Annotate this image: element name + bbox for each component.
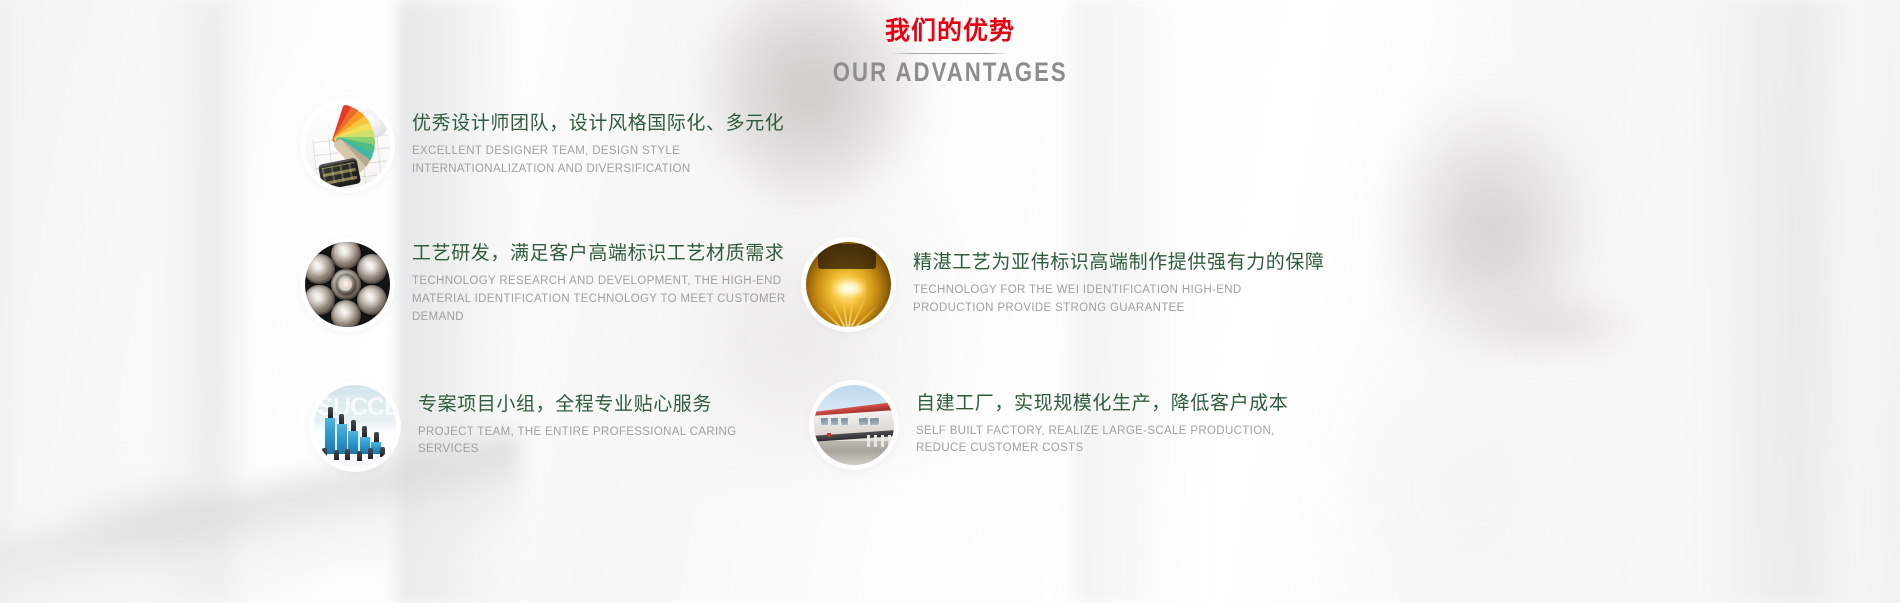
success-team-chart-image: SUCCESS	[314, 385, 396, 467]
feature-title-en-2: TECHNOLOGY RESEARCH AND DEVELOPMENT, THE…	[412, 273, 792, 326]
page-title-cn: 我们的优势	[807, 18, 1094, 46]
feature-thumb-wrap-4: SUCCESS	[314, 385, 396, 467]
color-swatch-blueprint-image	[305, 103, 390, 188]
feature-thumb-wrap-3	[806, 242, 891, 327]
feature-texts-3: 精湛工艺为亚伟标识高端制作提供强有力的保障 TECHNOLOGY FOR THE…	[913, 251, 1325, 317]
title-divider	[891, 53, 1009, 54]
section-header: 我们的优势 OUR ADVANTAGES	[0, 18, 1900, 88]
page-title-en: OUR ADVANTAGES	[833, 57, 1068, 88]
feature-item-3[interactable]: 精湛工艺为亚伟标识高端制作提供强有力的保障 TECHNOLOGY FOR THE…	[806, 242, 1325, 327]
feature-thumb-wrap-1	[305, 103, 390, 188]
feature-title-en-3: TECHNOLOGY FOR THE WEI IDENTIFICATION HI…	[913, 282, 1293, 318]
feature-title-en-1: EXCELLENT DESIGNER TEAM, DESIGN STYLE IN…	[412, 143, 782, 179]
feature-item-1[interactable]: 优秀设计师团队，设计风格国际化、多元化 EXCELLENT DESIGNER T…	[305, 103, 784, 188]
advantages-section: 我们的优势 OUR ADVANTAGES	[0, 0, 1900, 603]
feature-texts-1: 优秀设计师团队，设计风格国际化、多元化 EXCELLENT DESIGNER T…	[412, 112, 784, 178]
feature-title-en-4: PROJECT TEAM, THE ENTIRE PROFESSIONAL CA…	[418, 424, 798, 460]
feature-title-cn-3: 精湛工艺为亚伟标识高端制作提供强有力的保障	[913, 251, 1325, 275]
feature-title-cn-1: 优秀设计师团队，设计风格国际化、多元化	[412, 112, 784, 136]
metal-tubes-image	[305, 242, 390, 327]
feature-title-cn-5: 自建工厂，实现规模化生产，降低客户成本	[916, 392, 1296, 416]
feature-thumb-wrap-5	[814, 385, 894, 465]
feature-thumb-wrap-2	[305, 242, 390, 327]
feature-item-4[interactable]: SUCCESS	[314, 385, 798, 467]
feature-title-en-5: SELF BUILT FACTORY, REALIZE LARGE-SCALE …	[916, 423, 1296, 459]
welding-sparks-image	[806, 242, 891, 327]
background-warm-blur	[1430, 250, 1690, 400]
feature-title-cn-2: 工艺研发，满足客户高端标识工艺材质需求	[412, 242, 792, 266]
feature-texts-2: 工艺研发，满足客户高端标识工艺材质需求 TECHNOLOGY RESEARCH …	[412, 242, 792, 326]
feature-title-cn-4: 专案项目小组，全程专业贴心服务	[418, 393, 798, 417]
feature-texts-4: 专案项目小组，全程专业贴心服务 PROJECT TEAM, THE ENTIRE…	[418, 393, 798, 459]
feature-texts-5: 自建工厂，实现规模化生产，降低客户成本 SELF BUILT FACTORY, …	[916, 392, 1296, 458]
feature-item-2[interactable]: 工艺研发，满足客户高端标识工艺材质需求 TECHNOLOGY RESEARCH …	[305, 242, 792, 327]
factory-building-image	[814, 385, 894, 465]
feature-item-5[interactable]: 自建工厂，实现规模化生产，降低客户成本 SELF BUILT FACTORY, …	[814, 385, 1296, 465]
